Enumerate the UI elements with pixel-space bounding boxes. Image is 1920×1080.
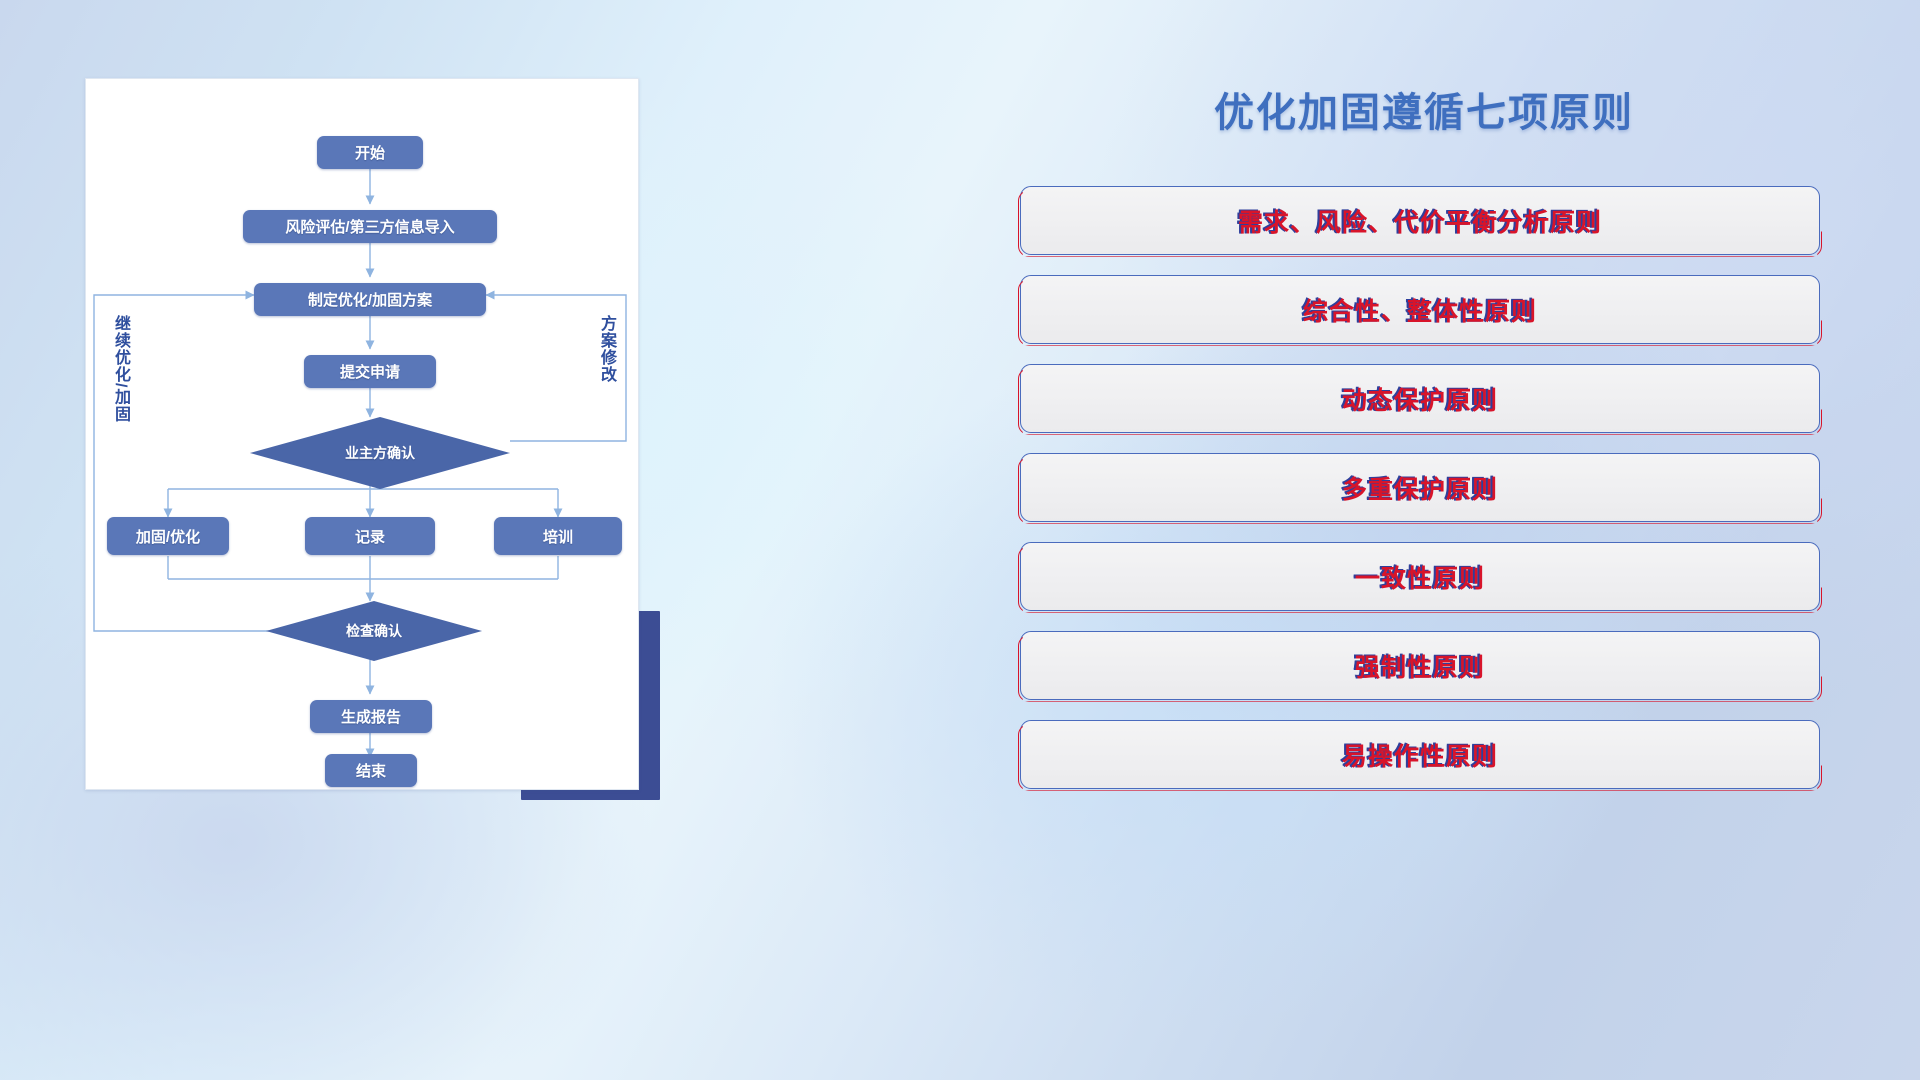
flow-node-report[interactable]: 生成报告 — [310, 700, 432, 733]
principle-card-1[interactable]: 需求、风险、代价平衡分析原则 — [1020, 186, 1820, 255]
flow-node-label: 业主方确认 — [345, 443, 415, 463]
principle-card-5[interactable]: 一致性原则 — [1020, 542, 1820, 611]
flow-node-plan[interactable]: 制定优化/加固方案 — [254, 283, 486, 316]
flow-node-check-confirm[interactable]: 检查确认 — [266, 601, 482, 661]
flow-node-harden[interactable]: 加固/优化 — [107, 517, 229, 555]
flow-node-start[interactable]: 开始 — [317, 136, 423, 169]
flow-node-submit[interactable]: 提交申请 — [304, 355, 436, 388]
principle-label: 强制性原则 — [1355, 648, 1485, 684]
flow-node-label: 制定优化/加固方案 — [308, 289, 432, 310]
principle-label: 综合性、整体性原则 — [1303, 292, 1537, 328]
flow-edge-label-continue-optimize: 继续优化/加固 — [111, 315, 128, 453]
flow-node-training[interactable]: 培训 — [494, 517, 622, 555]
flow-node-label: 检查确认 — [346, 621, 402, 641]
principle-card-3[interactable]: 动态保护原则 — [1020, 364, 1820, 433]
principles-list: 需求、风险、代价平衡分析原则 综合性、整体性原则 动态保护原则 多重保护原则 一… — [1020, 186, 1850, 789]
principle-card-4[interactable]: 多重保护原则 — [1020, 453, 1820, 522]
principle-label: 一致性原则 — [1355, 559, 1485, 595]
flow-node-label: 培训 — [543, 526, 573, 547]
flow-node-end[interactable]: 结束 — [325, 754, 417, 787]
flow-node-label: 开始 — [355, 142, 385, 163]
flowchart-panel: 开始 风险评估/第三方信息导入 制定优化/加固方案 提交申请 业主方确认 加固/… — [85, 78, 639, 790]
principles-section: 优化加固遵循七项原则 需求、风险、代价平衡分析原则 综合性、整体性原则 动态保护… — [1020, 80, 1850, 789]
flow-edge-label-plan-revision: 方案修改 — [597, 315, 614, 407]
flow-node-label: 风险评估/第三方信息导入 — [285, 216, 454, 237]
principle-card-2[interactable]: 综合性、整体性原则 — [1020, 275, 1820, 344]
principle-label: 易操作性原则 — [1342, 737, 1498, 773]
flow-node-label: 记录 — [355, 526, 385, 547]
flow-node-owner-confirm[interactable]: 业主方确认 — [250, 417, 510, 489]
flow-node-label: 加固/优化 — [136, 526, 200, 547]
flow-node-risk-assessment[interactable]: 风险评估/第三方信息导入 — [243, 210, 497, 243]
principles-title: 优化加固遵循七项原则 — [998, 80, 1850, 138]
flowchart-canvas: 开始 风险评估/第三方信息导入 制定优化/加固方案 提交申请 业主方确认 加固/… — [86, 79, 638, 789]
principle-card-6[interactable]: 强制性原则 — [1020, 631, 1820, 700]
principle-label: 动态保护原则 — [1342, 381, 1498, 417]
principle-card-7[interactable]: 易操作性原则 — [1020, 720, 1820, 789]
flow-node-label: 结束 — [356, 760, 386, 781]
flow-node-label: 生成报告 — [341, 706, 401, 727]
principle-label: 需求、风险、代价平衡分析原则 — [1238, 203, 1602, 239]
flow-node-label: 提交申请 — [340, 361, 400, 382]
principle-label: 多重保护原则 — [1342, 470, 1498, 506]
flow-node-record[interactable]: 记录 — [305, 517, 435, 555]
